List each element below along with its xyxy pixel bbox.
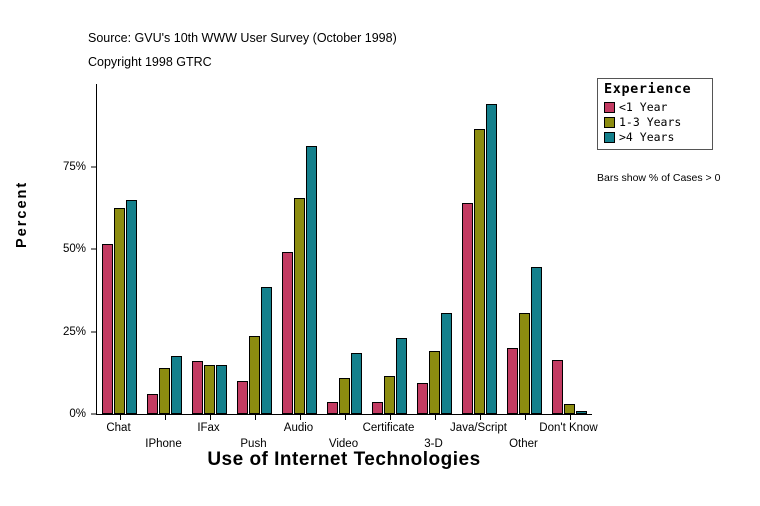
bar: [249, 336, 260, 414]
bar: [507, 348, 518, 414]
x-axis-tick: [165, 414, 166, 420]
bar-group: [327, 84, 363, 414]
y-axis-tick-label: 0%: [69, 408, 86, 420]
x-axis-tick: [435, 414, 436, 420]
legend-item: 1-3 Years: [604, 115, 707, 130]
x-axis-category-label: Other: [509, 438, 538, 450]
legend: Experience <1 Year1-3 Years>4 Years: [597, 78, 713, 150]
bar: [261, 287, 272, 414]
bar: [216, 365, 227, 415]
y-axis-tick-label: 50%: [63, 243, 86, 255]
x-axis-category-label: Don't Know: [539, 422, 597, 434]
x-axis-tick: [210, 414, 211, 420]
bar: [576, 411, 587, 414]
x-axis-category-label: IPhone: [145, 438, 181, 450]
bar: [372, 402, 383, 414]
bar-group: [192, 84, 228, 414]
bar: [327, 402, 338, 414]
legend-entries: <1 Year1-3 Years>4 Years: [603, 100, 707, 145]
bar: [339, 378, 350, 414]
bar: [552, 360, 563, 414]
bar-group: [462, 84, 498, 414]
bar: [474, 129, 485, 414]
bar: [564, 404, 575, 414]
bar-group: [102, 84, 138, 414]
bar: [486, 104, 497, 414]
chart-page: Source: GVU's 10th WWW User Survey (Octo…: [0, 0, 760, 506]
x-axis-tick: [570, 414, 571, 420]
legend-item: >4 Years: [604, 130, 707, 145]
x-axis-category-label: Certificate: [363, 422, 415, 434]
x-axis-category-label: Audio: [284, 422, 313, 434]
y-axis-tick: [91, 331, 97, 332]
bar: [204, 365, 215, 415]
bar: [462, 203, 473, 414]
x-axis-category-label: 3-D: [424, 438, 443, 450]
legend-swatch-icon: [604, 102, 615, 113]
bar: [159, 368, 170, 414]
bar: [429, 351, 440, 414]
copyright-note: Copyright 1998 GTRC: [88, 55, 212, 69]
x-axis-tick: [390, 414, 391, 420]
bar: [417, 383, 428, 414]
bar-group: [552, 84, 588, 414]
legend-item: <1 Year: [604, 100, 707, 115]
bar-group: [507, 84, 543, 414]
x-axis-category-label: Video: [329, 438, 358, 450]
bar: [351, 353, 362, 414]
y-axis-title: Percent: [14, 181, 30, 248]
plot-inner: 0%25%50%75%: [97, 84, 592, 414]
bar: [147, 394, 158, 414]
legend-title: Experience: [604, 82, 707, 98]
x-axis-category-label: IFax: [197, 422, 219, 434]
bar: [237, 381, 248, 414]
bar: [531, 267, 542, 414]
x-axis-category-label: Java/Script: [450, 422, 507, 434]
bar: [519, 313, 530, 414]
x-axis-tick: [255, 414, 256, 420]
source-note: Source: GVU's 10th WWW User Survey (Octo…: [88, 31, 397, 45]
bar-group: [147, 84, 183, 414]
bar: [441, 313, 452, 414]
bar-group: [237, 84, 273, 414]
bar: [294, 198, 305, 414]
legend-swatch-icon: [604, 132, 615, 143]
x-axis-category-label: Chat: [106, 422, 130, 434]
bar: [192, 361, 203, 414]
x-axis-tick: [345, 414, 346, 420]
legend-swatch-icon: [604, 117, 615, 128]
bar: [306, 146, 317, 414]
legend-note: Bars show % of Cases > 0: [597, 172, 720, 184]
y-axis-tick: [91, 414, 97, 415]
x-axis-title: Use of Internet Technologies: [96, 449, 592, 471]
bar: [384, 376, 395, 414]
bar: [126, 200, 137, 414]
x-axis-tick: [120, 414, 121, 420]
bar-group: [372, 84, 408, 414]
bar-group: [282, 84, 318, 414]
bar: [102, 244, 113, 414]
x-axis-tick: [480, 414, 481, 420]
y-axis-tick: [91, 166, 97, 167]
y-axis-tick-label: 75%: [63, 161, 86, 173]
legend-item-label: <1 Year: [619, 100, 667, 114]
bar-group: [417, 84, 453, 414]
x-axis-category-label: Push: [240, 438, 266, 450]
x-axis-tick: [300, 414, 301, 420]
bar: [396, 338, 407, 414]
y-axis-tick: [91, 249, 97, 250]
legend-item-label: >4 Years: [619, 130, 674, 144]
legend-item-label: 1-3 Years: [619, 115, 681, 129]
bar: [171, 356, 182, 414]
y-axis-tick-label: 25%: [63, 326, 86, 338]
plot-area: 0%25%50%75%: [96, 84, 592, 415]
x-axis-tick: [525, 414, 526, 420]
bar: [282, 252, 293, 414]
bar: [114, 208, 125, 414]
